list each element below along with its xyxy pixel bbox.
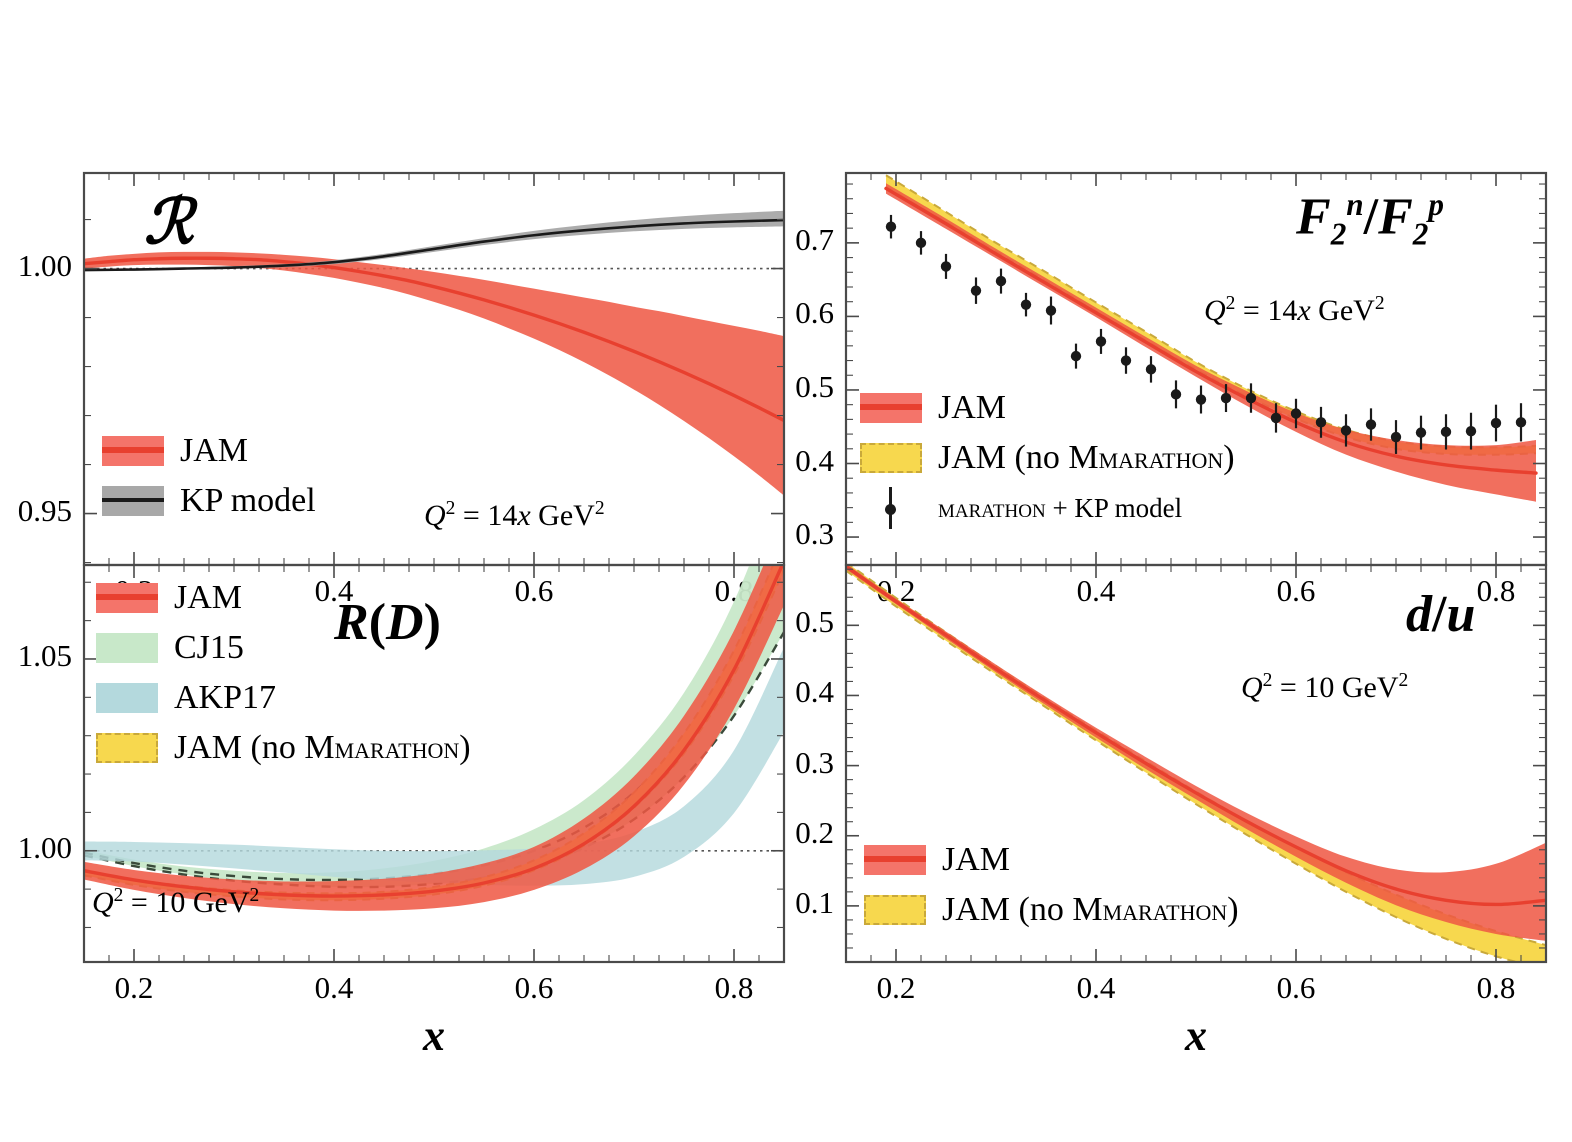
legend: JAMJAM (no MMarathon) [864, 835, 1239, 935]
x-tick-label: 0.4 [1062, 970, 1130, 1006]
legend-item[interactable]: JAM [864, 835, 1239, 885]
legend-label: JAM [942, 841, 1010, 879]
legend-swatch [864, 845, 926, 875]
y-tick-label: 0.3 [754, 745, 834, 781]
y-tick-label: 0.2 [754, 815, 834, 851]
x-tick-label: 0.8 [1462, 970, 1530, 1006]
x-axis-title: x [1166, 1010, 1226, 1061]
panel-title: d/u [1406, 585, 1475, 644]
q2-annotation: Q2 = 10 GeV2 [1241, 670, 1408, 705]
legend-label: JAM (no MMarathon) [942, 891, 1239, 929]
figure-root: 0.20.40.60.81.000.95ℛQ2 = 14x GeV2JAMKP … [0, 0, 1572, 1142]
y-tick-label: 0.1 [754, 885, 834, 921]
legend-item[interactable]: JAM (no MMarathon) [864, 885, 1239, 935]
x-tick-label: 0.2 [862, 970, 930, 1006]
y-tick-label: 0.5 [754, 604, 834, 640]
legend-swatch [864, 895, 926, 925]
x-tick-label: 0.6 [1262, 970, 1330, 1006]
y-tick-label: 0.4 [754, 674, 834, 710]
